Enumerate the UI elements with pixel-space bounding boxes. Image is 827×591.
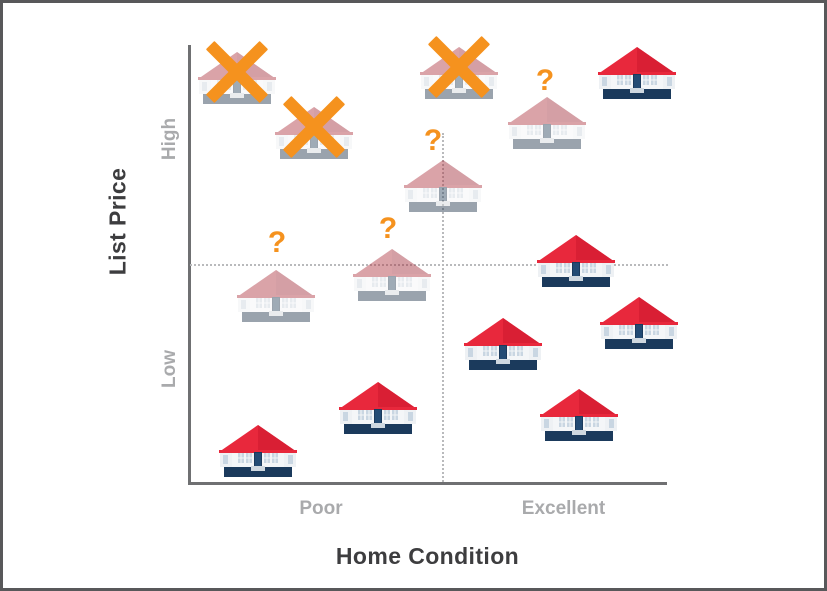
house-marker xyxy=(214,419,302,483)
x-tick-poor: Poor xyxy=(261,498,381,520)
y-tick-low: Low xyxy=(159,334,181,404)
x-tick-excellent: Excellent xyxy=(501,498,626,520)
reject-x-icon xyxy=(202,37,272,107)
house-marker xyxy=(459,312,547,376)
x-axis-title: Home Condition xyxy=(188,543,667,570)
reject-x-icon xyxy=(279,92,349,162)
house-marker xyxy=(503,91,591,155)
house-marker xyxy=(348,243,436,307)
house-marker xyxy=(232,264,320,328)
house-marker xyxy=(334,376,422,440)
house-marker xyxy=(532,229,620,293)
figure-frame: List Price Home Condition High Low Poor … xyxy=(0,0,827,591)
reject-x-icon xyxy=(424,32,494,102)
house-marker xyxy=(593,41,681,105)
y-tick-high: High xyxy=(159,104,181,174)
plot-surface: List Price Home Condition High Low Poor … xyxy=(3,3,827,591)
house-marker xyxy=(595,291,683,355)
question-mark-icon: ? xyxy=(268,228,286,258)
y-axis-title: List Price xyxy=(105,102,132,342)
question-mark-icon: ? xyxy=(536,66,554,96)
question-mark-icon: ? xyxy=(379,214,397,244)
question-mark-icon: ? xyxy=(424,126,442,156)
house-marker xyxy=(399,154,487,218)
house-marker xyxy=(535,383,623,447)
